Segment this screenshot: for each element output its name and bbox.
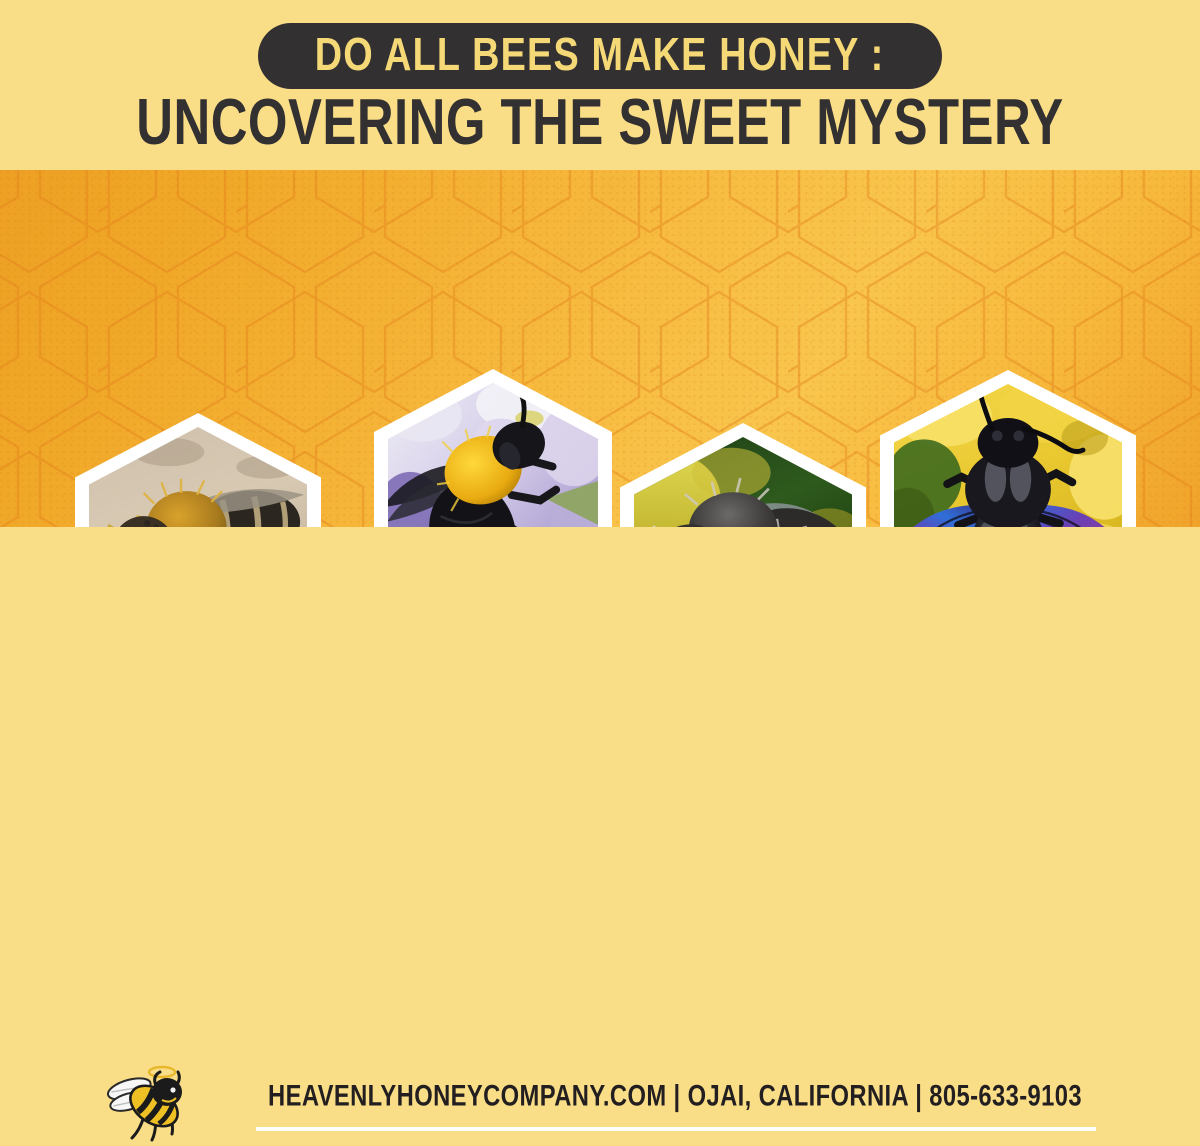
header: DO ALL BEES MAKE HONEY : UNCOVERING THE … [0,0,1200,170]
footer-contact-line: HEAVENLYHONEYCOMPANY.COM | OJAI, CALIFOR… [259,1080,1091,1114]
bee-illustration [100,1060,188,1146]
image-gallery-band [0,170,1200,527]
page-title-line2: UNCOVERING THE SWEET MYSTERY [24,85,1176,159]
bee-logo-icon [100,1060,188,1146]
footer: HEAVENLYHONEYCOMPANY.COM | OJAI, CALIFOR… [0,527,1200,630]
title-pill: DO ALL BEES MAKE HONEY : [258,23,942,89]
footer-divider [256,1127,1096,1131]
page-title-line1: DO ALL BEES MAKE HONEY : [315,30,885,82]
